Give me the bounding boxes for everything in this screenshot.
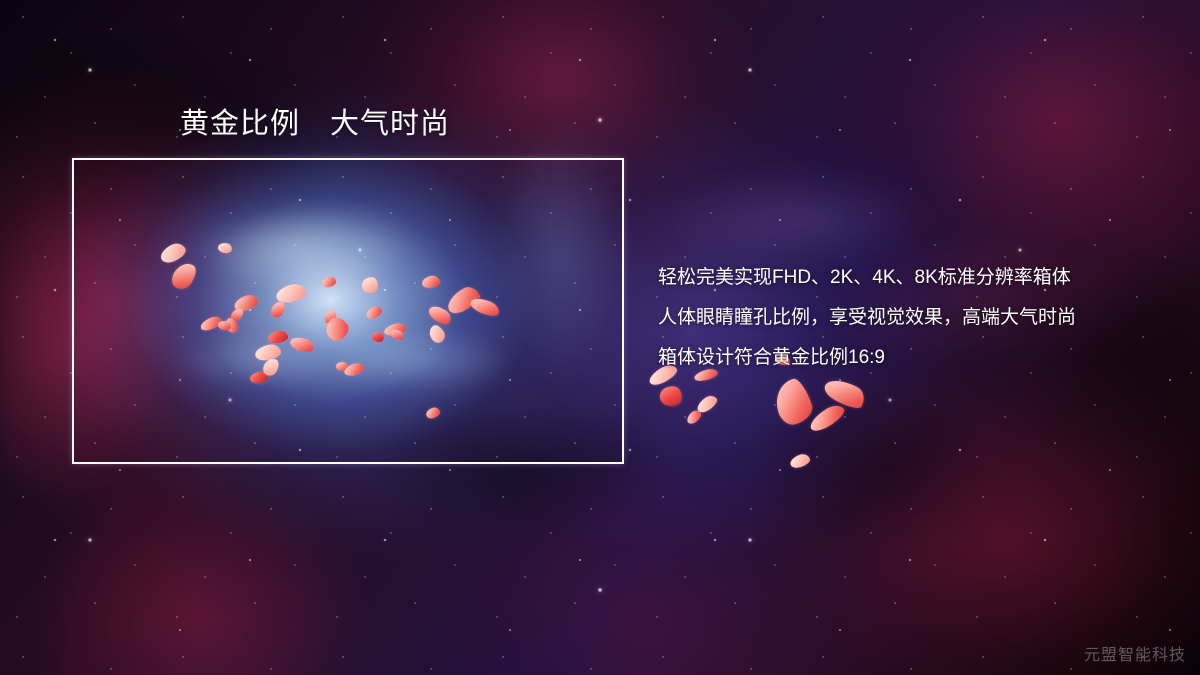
feature-description: 轻松完美实现FHD、2K、4K、8K标准分辨率箱体 人体眼睛瞳孔比例，享受视觉效… — [658, 258, 1178, 378]
feature-line-3: 箱体设计符合黄金比例16:9 — [658, 338, 1178, 378]
video-preview-frame[interactable] — [72, 158, 624, 464]
slide-canvas: 黄金比例 大气时尚 轻松完美实现FHD、2K、4K、8K标准分辨率箱体 人体眼睛… — [0, 0, 1200, 675]
feature-line-1: 轻松完美实现FHD、2K、4K、8K标准分辨率箱体 — [658, 258, 1178, 298]
feature-line-2: 人体眼睛瞳孔比例，享受视觉效果，高端大气时尚 — [658, 298, 1178, 338]
page-title: 黄金比例 大气时尚 — [180, 100, 450, 142]
brand-watermark: 元盟智能科技 — [1084, 641, 1186, 665]
